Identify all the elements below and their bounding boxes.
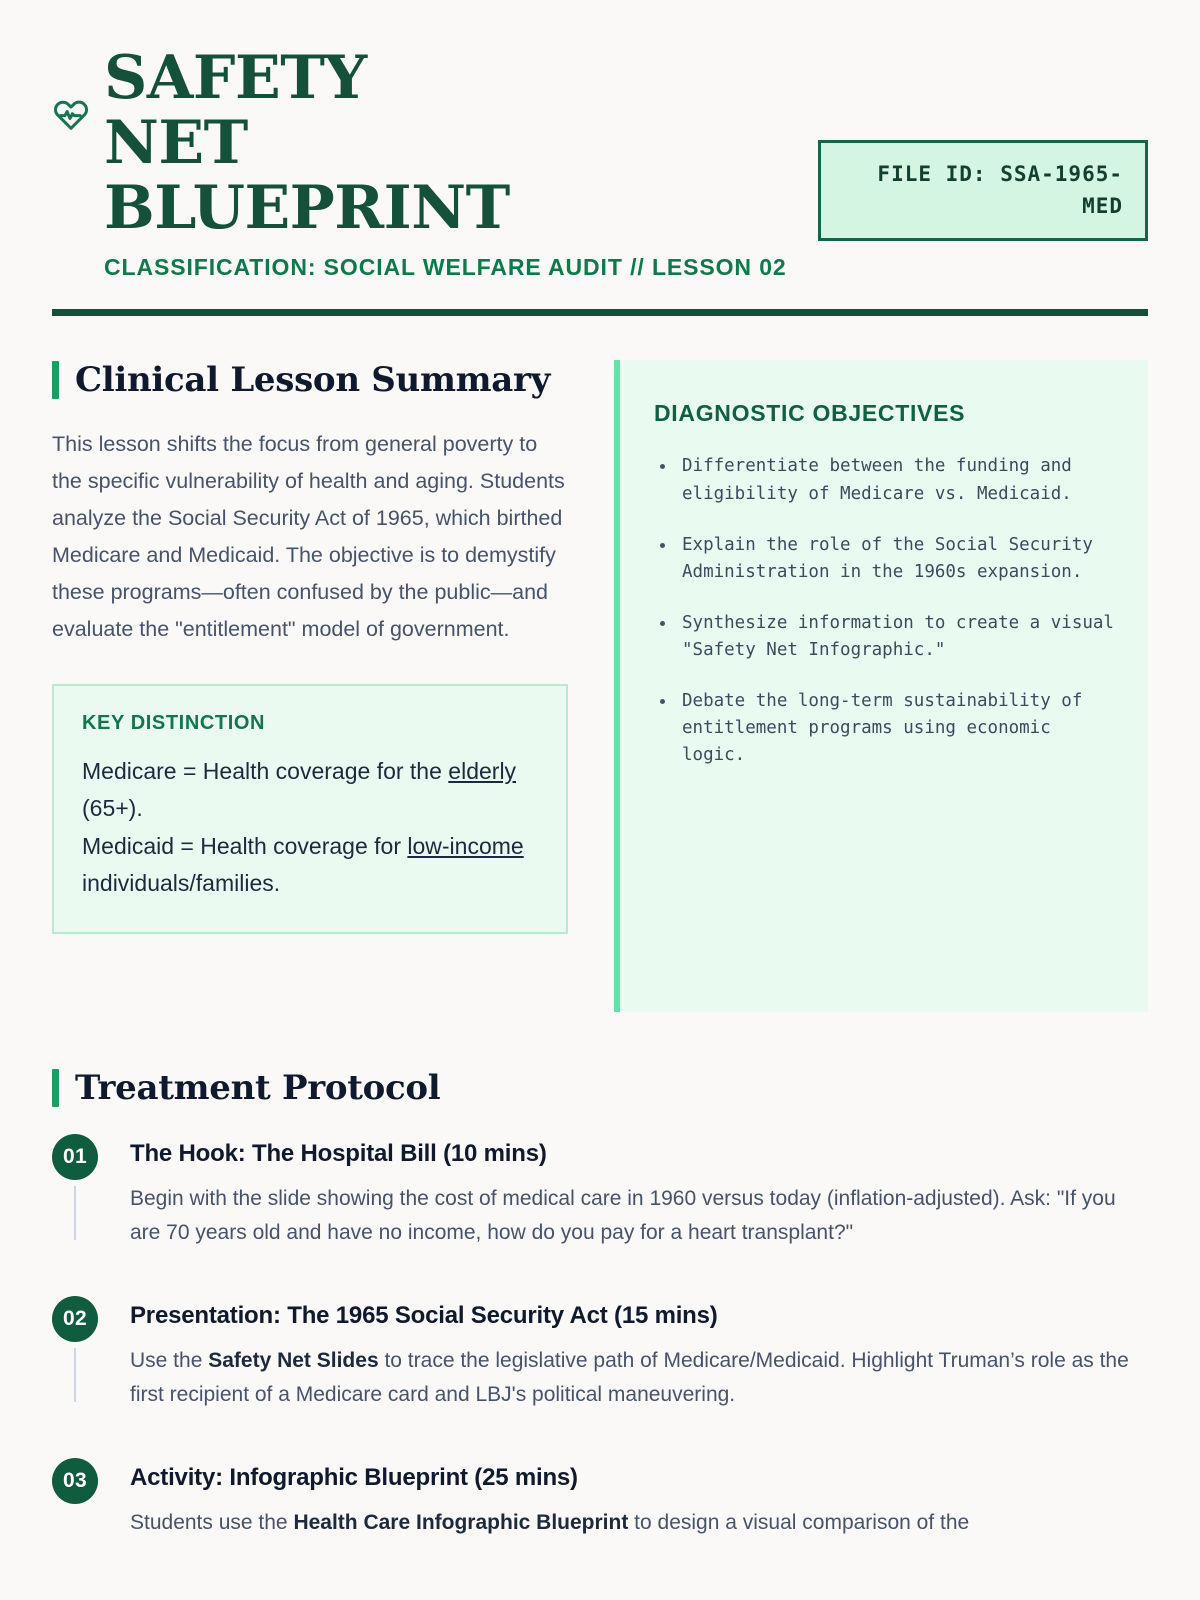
medicaid-underlined-term: low-income — [407, 833, 523, 859]
key-distinction-box: KEY DISTINCTION Medicare = Health covera… — [52, 684, 568, 934]
step-description-pre: Use the — [130, 1349, 208, 1372]
objectives-list: Differentiate between the funding and el… — [654, 453, 1114, 769]
list-item: Differentiate between the funding and el… — [654, 453, 1114, 507]
key-distinction-title: KEY DISTINCTION — [82, 712, 538, 735]
step-marker: 02 — [52, 1296, 108, 1412]
top-content-grid: Clinical Lesson Summary This lesson shif… — [52, 360, 1148, 1012]
medicaid-text-pre: Medicaid = Health coverage for — [82, 833, 407, 859]
medicare-text-post: (65+). — [82, 795, 143, 821]
heading-accent-bar — [52, 1069, 59, 1107]
step-body: Presentation: The 1965 Social Security A… — [130, 1296, 1148, 1412]
objectives-title: DIAGNOSTIC OBJECTIVES — [654, 400, 1114, 427]
step-description-emphasis: Safety Net Slides — [208, 1349, 378, 1372]
heading-accent-bar — [52, 361, 59, 399]
diagnostic-objectives-panel: DIAGNOSTIC OBJECTIVES Differentiate betw… — [614, 360, 1148, 1012]
document-classification-subtitle: CLASSIFICATION: SOCIAL WELFARE AUDIT // … — [104, 254, 1148, 281]
lesson-document-page: SAFETY NET BLUEPRINT CLASSIFICATION: SOC… — [0, 0, 1200, 1600]
summary-section-heading: Clinical Lesson Summary — [52, 360, 568, 400]
protocol-step: 01 The Hook: The Hospital Bill (10 mins)… — [52, 1134, 1148, 1296]
summary-column: Clinical Lesson Summary This lesson shif… — [52, 360, 568, 1012]
step-body: Activity: Infographic Blueprint (25 mins… — [130, 1458, 1148, 1540]
medicaid-text-post: individuals/families. — [82, 870, 280, 896]
objectives-column: DIAGNOSTIC OBJECTIVES Differentiate betw… — [614, 360, 1148, 1012]
step-marker: 03 — [52, 1458, 108, 1540]
heart-pulse-icon — [52, 96, 90, 134]
document-header: SAFETY NET BLUEPRINT CLASSIFICATION: SOC… — [52, 46, 1148, 316]
step-title: Presentation: The 1965 Social Security A… — [130, 1302, 1148, 1330]
step-number-badge: 01 — [52, 1134, 98, 1180]
step-number-badge: 03 — [52, 1458, 98, 1504]
step-description-emphasis: Health Care Infographic Blueprint — [293, 1511, 628, 1534]
step-connector-line — [74, 1186, 76, 1240]
protocol-section-heading: Treatment Protocol — [52, 1068, 1148, 1108]
medicare-text-pre: Medicare = Health coverage for the — [82, 758, 448, 784]
header-divider — [52, 309, 1148, 316]
protocol-step: 03 Activity: Infographic Blueprint (25 m… — [52, 1458, 1148, 1540]
step-title: Activity: Infographic Blueprint (25 mins… — [130, 1464, 1148, 1492]
protocol-heading-label: Treatment Protocol — [75, 1068, 440, 1108]
file-id-badge: FILE ID: SSA-1965-MED — [818, 140, 1148, 241]
treatment-protocol-section: Treatment Protocol 01 The Hook: The Hosp… — [52, 1068, 1148, 1540]
step-description: Students use the Health Care Infographic… — [130, 1506, 1148, 1540]
page-title: SAFETY NET BLUEPRINT — [104, 46, 524, 240]
key-distinction-body: Medicare = Health coverage for the elder… — [82, 753, 538, 902]
step-number-badge: 02 — [52, 1296, 98, 1342]
step-description: Use the Safety Net Slides to trace the l… — [130, 1344, 1148, 1412]
list-item: Debate the long-term sustainability of e… — [654, 688, 1114, 769]
summary-heading-label: Clinical Lesson Summary — [75, 360, 550, 400]
step-description-pre: Students use the — [130, 1511, 293, 1534]
step-description-post: to design a visual comparison of the — [628, 1511, 969, 1534]
protocol-step: 02 Presentation: The 1965 Social Securit… — [52, 1296, 1148, 1458]
step-description-pre: Begin with the slide showing the cost of… — [130, 1187, 1116, 1244]
list-item: Explain the role of the Social Security … — [654, 532, 1114, 586]
step-marker: 01 — [52, 1134, 108, 1250]
medicare-underlined-term: elderly — [448, 758, 516, 784]
step-connector-line — [74, 1348, 76, 1402]
key-distinction-line-2: Medicaid = Health coverage for low-incom… — [82, 833, 524, 896]
summary-body-text: This lesson shifts the focus from genera… — [52, 426, 568, 648]
step-description: Begin with the slide showing the cost of… — [130, 1182, 1148, 1250]
key-distinction-line-1: Medicare = Health coverage for the elder… — [82, 758, 516, 821]
step-body: The Hook: The Hospital Bill (10 mins) Be… — [130, 1134, 1148, 1250]
list-item: Synthesize information to create a visua… — [654, 610, 1114, 664]
step-title: The Hook: The Hospital Bill (10 mins) — [130, 1140, 1148, 1168]
